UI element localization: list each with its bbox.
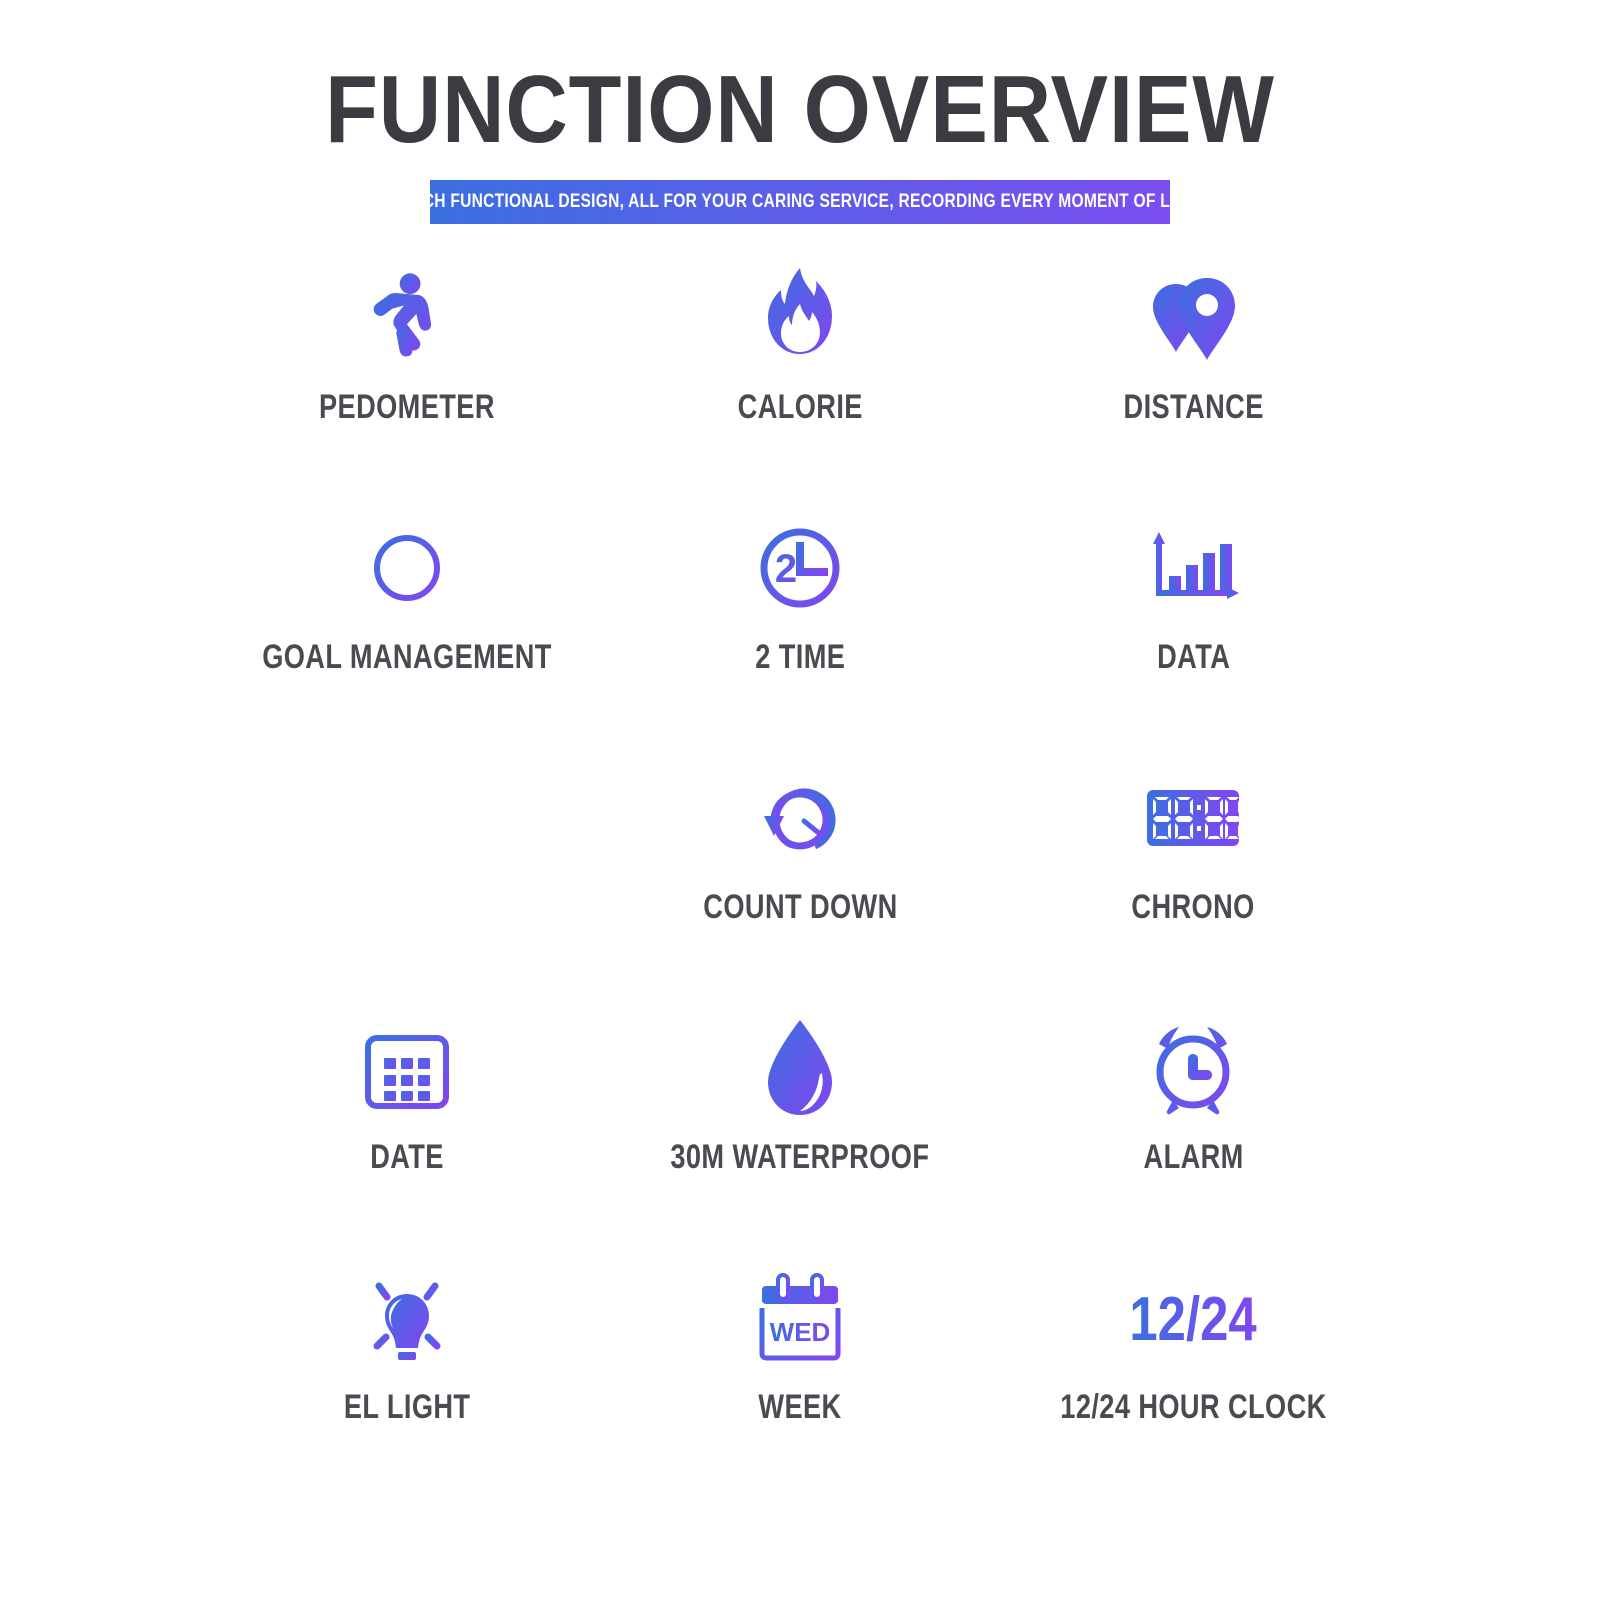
flame-icon [750, 262, 850, 374]
feature-label: DATA [1157, 638, 1230, 677]
twelve-twentyfour-icon: 12/24 [1118, 1262, 1268, 1374]
crosshair-target-icon [355, 512, 459, 624]
bar-chart-icon [1141, 512, 1245, 624]
feature-label: PEDOMETER [319, 388, 495, 427]
dual-time-clock-icon: 2 [750, 512, 850, 624]
feature-item-goal-management[interactable]: GOAL MANAGEMENT [210, 498, 603, 748]
feature-item-distance[interactable]: DISTANCE [997, 248, 1390, 498]
feature-label: 12/24 HOUR CLOCK [1060, 1388, 1326, 1427]
feature-label: GOAL MANAGEMENT [262, 638, 552, 677]
feature-label: 30M WATERPROOF [670, 1138, 929, 1177]
feature-item-date[interactable]: DATE [210, 998, 603, 1248]
feature-item-chrono[interactable]: CHRONO [997, 748, 1390, 998]
countdown-clock-icon [748, 762, 852, 874]
feature-item-count-down[interactable]: COUNT DOWN [603, 748, 996, 998]
week-calendar-icon: WED [754, 1262, 846, 1374]
running-person-icon [355, 262, 459, 374]
dual-time-number: 2 [775, 547, 797, 591]
feature-item-week[interactable]: WED WEEK [603, 1248, 996, 1498]
feature-item-data[interactable]: DATA [997, 498, 1390, 748]
digital-display-icon [1145, 762, 1241, 874]
calendar-grid-icon [358, 1012, 456, 1124]
page-header: FUNCTION OVERVIEW EACH FUNCTIONAL DESIGN… [0, 0, 1600, 224]
water-drop-icon [760, 1012, 840, 1124]
map-pins-icon [1141, 262, 1245, 374]
page-title: FUNCTION OVERVIEW [80, 62, 1520, 158]
week-day-text: WED [770, 1317, 831, 1347]
feature-grid: PEDOMETER CALORIE DISTANCE [210, 224, 1390, 1498]
alarm-clock-icon [1143, 1012, 1243, 1124]
feature-label: COUNT DOWN [703, 888, 897, 927]
feature-item-waterproof[interactable]: 30M WATERPROOF [603, 998, 996, 1248]
feature-label: WEEK [758, 1388, 841, 1427]
hour-clock-text: 12/24 [1130, 1285, 1258, 1354]
feature-label: ALARM [1143, 1138, 1243, 1177]
feature-label: DISTANCE [1123, 388, 1263, 427]
feature-item-calorie[interactable]: CALORIE [603, 248, 996, 498]
feature-item-el-light[interactable]: EL LIGHT [210, 1248, 603, 1498]
feature-item-2-time[interactable]: 2 2 TIME [603, 498, 996, 748]
feature-label: CHRONO [1132, 888, 1255, 927]
feature-label: DATE [370, 1138, 444, 1177]
feature-item-alarm[interactable]: ALARM [997, 998, 1390, 1248]
feature-item-pedometer[interactable]: PEDOMETER [210, 248, 603, 498]
feature-label: 2 TIME [755, 638, 845, 677]
feature-item-12-24-hour-clock[interactable]: 12/24 12/24 HOUR CLOCK [997, 1248, 1390, 1498]
feature-label: EL LIGHT [343, 1388, 470, 1427]
subtitle-banner: EACH FUNCTIONAL DESIGN, ALL FOR YOUR CAR… [430, 180, 1170, 224]
subtitle-text: EACH FUNCTIONAL DESIGN, ALL FOR YOUR CAR… [401, 191, 1200, 213]
feature-label: CALORIE [737, 388, 862, 427]
light-bulb-icon [357, 1262, 457, 1374]
